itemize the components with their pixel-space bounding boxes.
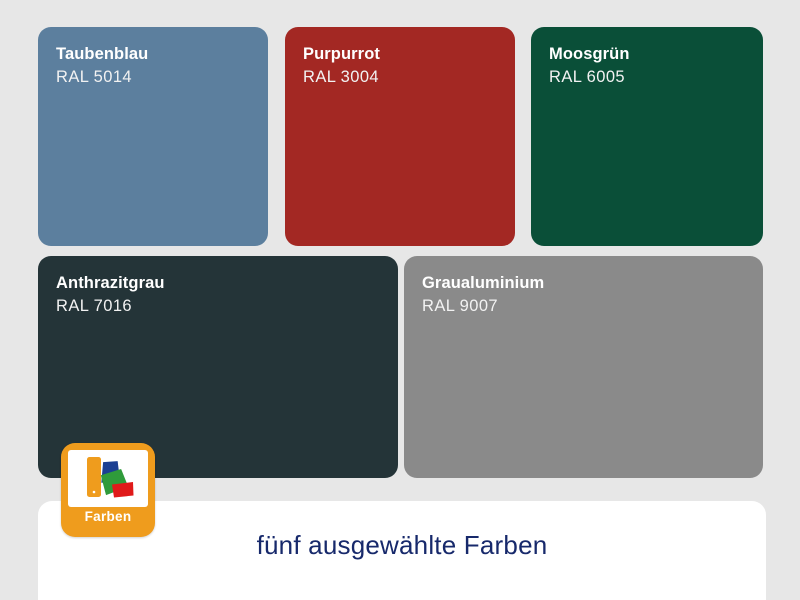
swatch-code: RAL 7016: [56, 295, 386, 318]
color-palette-page: Taubenblau RAL 5014 Purpurrot RAL 3004 M…: [0, 0, 800, 600]
color-swatch-taubenblau[interactable]: Taubenblau RAL 5014: [38, 27, 268, 246]
swatch-code: RAL 3004: [303, 66, 503, 89]
swatch-name: Purpurrot: [303, 43, 503, 65]
logo-inner-plate: [68, 450, 148, 507]
swatch-name: Moosgrün: [549, 43, 751, 65]
color-swatch-graualuminium[interactable]: Graualuminium RAL 9007: [404, 256, 763, 478]
swatch-labels: Moosgrün RAL 6005: [549, 43, 751, 89]
swatch-labels: Purpurrot RAL 3004: [303, 43, 503, 89]
swatch-code: RAL 5014: [56, 66, 256, 89]
logo-wordmark: Farben: [61, 509, 155, 524]
color-fan-icon: [68, 450, 148, 507]
swatch-name: Taubenblau: [56, 43, 256, 65]
swatch-code: RAL 9007: [422, 295, 751, 318]
swatch-labels: Graualuminium RAL 9007: [422, 272, 751, 318]
swatch-labels: Anthrazitgrau RAL 7016: [56, 272, 386, 318]
color-swatch-moosgruen[interactable]: Moosgrün RAL 6005: [531, 27, 763, 246]
swatch-code: RAL 6005: [549, 66, 751, 89]
farben-logo-badge[interactable]: Farben: [61, 443, 155, 537]
color-swatch-purpurrot[interactable]: Purpurrot RAL 3004: [285, 27, 515, 246]
swatch-labels: Taubenblau RAL 5014: [56, 43, 256, 89]
swatch-name: Graualuminium: [422, 272, 751, 294]
swatch-name: Anthrazitgrau: [56, 272, 386, 294]
